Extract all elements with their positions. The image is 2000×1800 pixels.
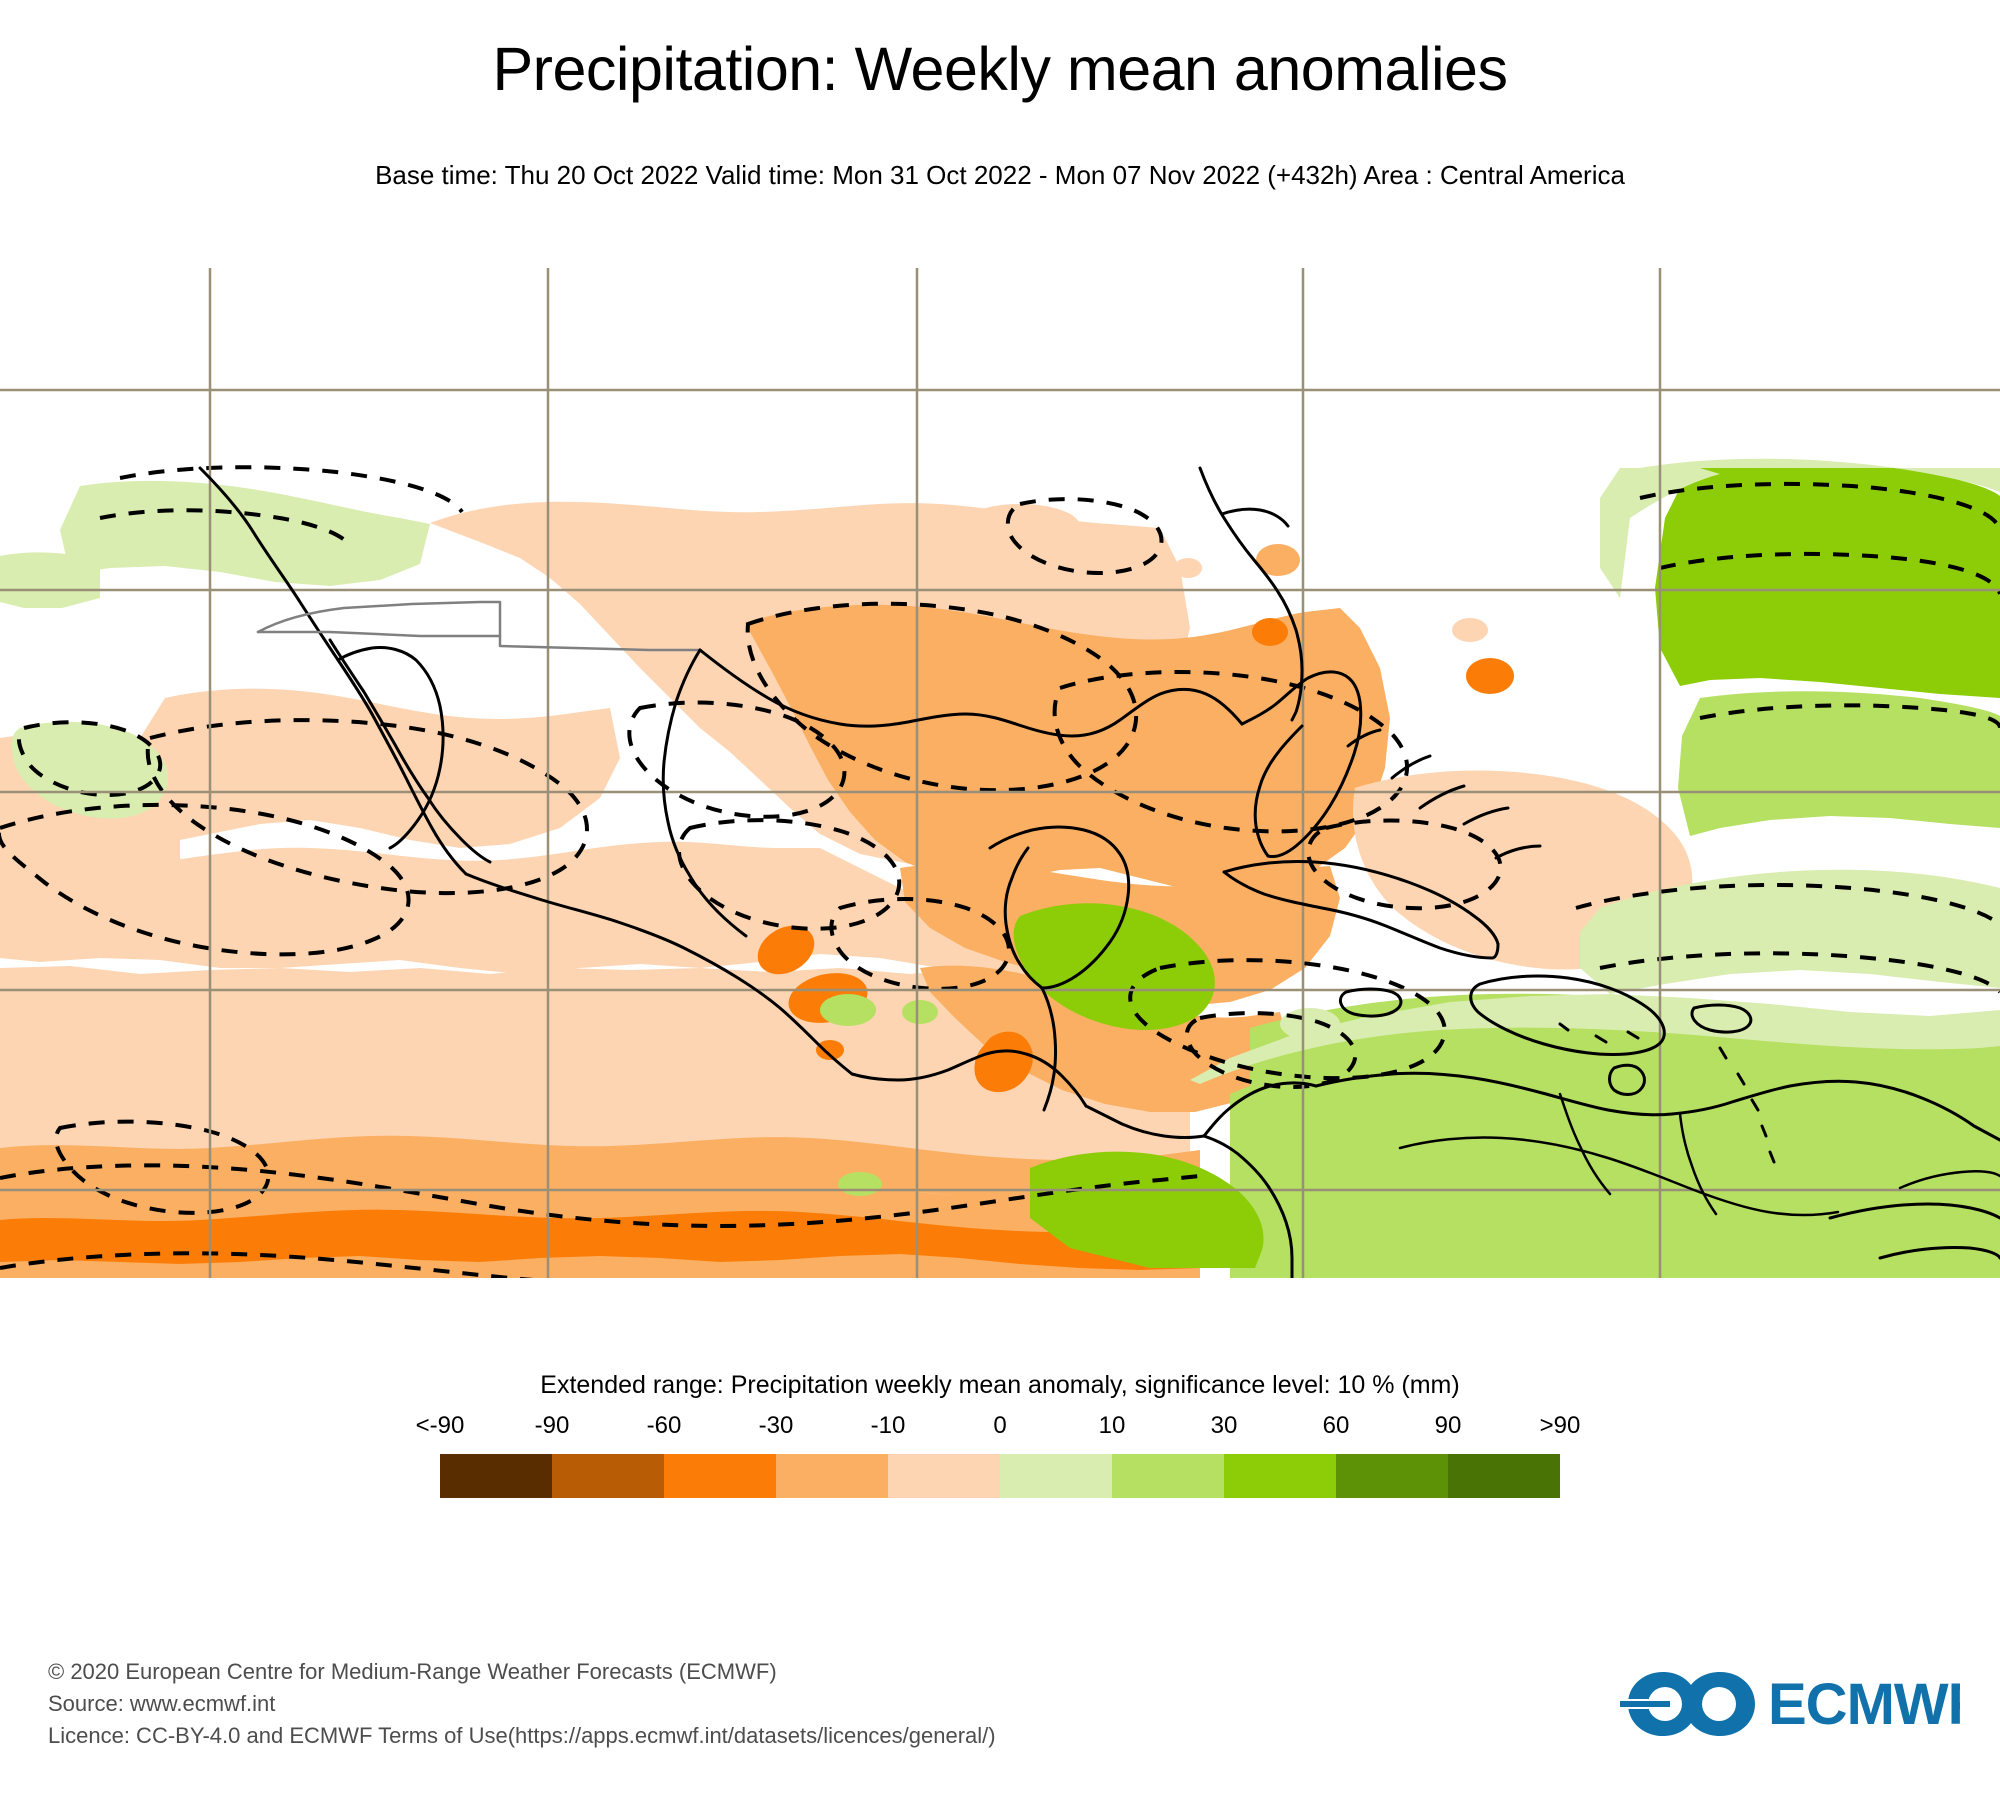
colorbar-tick-label: 60 [1323,1412,1350,1440]
fill-dry-cell-2 [1452,618,1488,642]
colorbar-tick-label: -30 [759,1412,794,1440]
colorbar-tick-label: -10 [871,1412,906,1440]
colorbar-caption: Extended range: Precipitation weekly mea… [0,1370,2000,1400]
colorbar-tick-label: 30 [1211,1412,1238,1440]
fill-dry-strong-carib [1466,658,1514,694]
colorbar-tick-label: 90 [1435,1412,1462,1440]
colorbar-tick-label: -90 [535,1412,570,1440]
colorbar-swatch-1 [552,1454,664,1498]
colorbar-swatch-3 [776,1454,888,1498]
fill-wet-cell-3 [838,1172,882,1196]
colorbar-tick-label: <-90 [416,1412,465,1440]
colorbar-tick-label: 0 [993,1412,1006,1440]
fill-dry-cell-4 [960,504,1080,548]
footer-source: Source: www.ecmwf.int [48,1688,996,1720]
colorbar-tick-row: <-90-90-60-30-10010306090>90 [440,1412,1560,1446]
colorbar-swatch-4 [888,1454,1000,1498]
colorbar-swatch-9 [1448,1454,1560,1498]
colorbar-tick-label: 10 [1099,1412,1126,1440]
page-title: Precipitation: Weekly mean anomalies [0,34,2000,104]
colorbar-swatch-2 [664,1454,776,1498]
colorbar-legend: Extended range: Precipitation weekly mea… [0,1370,2000,1498]
footer-credits: © 2020 European Centre for Medium-Range … [48,1656,996,1752]
fill-wet-cell-2 [902,1000,938,1024]
footer-copyright: © 2020 European Centre for Medium-Range … [48,1656,996,1688]
fill-dry-strong-atl [1252,618,1288,646]
colorbar-swatch-7 [1224,1454,1336,1498]
colorbar-swatch-0 [440,1454,552,1498]
colorbar-swatch-6 [1112,1454,1224,1498]
fill-dry-cell-3 [1174,558,1202,578]
colorbar-tick-label: -60 [647,1412,682,1440]
anomaly-map [0,268,2000,1278]
ecmwf-logo-mark [1620,1672,1755,1736]
page-subtitle: Base time: Thu 20 Oct 2022 Valid time: M… [0,160,2000,191]
footer-licence: Licence: CC-BY-4.0 and ECMWF Terms of Us… [48,1720,996,1752]
colorbar-tick-label: >90 [1540,1412,1581,1440]
fill-wet-mid-atl-e2 [1678,691,2000,836]
fill-wet-light-nw2 [0,552,100,608]
colorbar-swatches [440,1454,1560,1498]
ecmwf-logo-svg: ECMWF [1620,1658,1960,1750]
ecmwf-logo: ECMWF [1620,1658,1960,1750]
fill-wet-strong-atl-e [1655,461,2000,698]
map-canvas [0,268,2000,1278]
colorbar-scale: <-90-90-60-30-10010306090>90 [440,1412,1560,1498]
colorbar-swatch-5 [1000,1454,1112,1498]
colorbar-swatch-8 [1336,1454,1448,1498]
fill-wet-cell-1 [820,994,876,1026]
ecmwf-logo-text: ECMWF [1768,1672,1960,1737]
fill-wet-cell-4 [1280,1008,1340,1040]
